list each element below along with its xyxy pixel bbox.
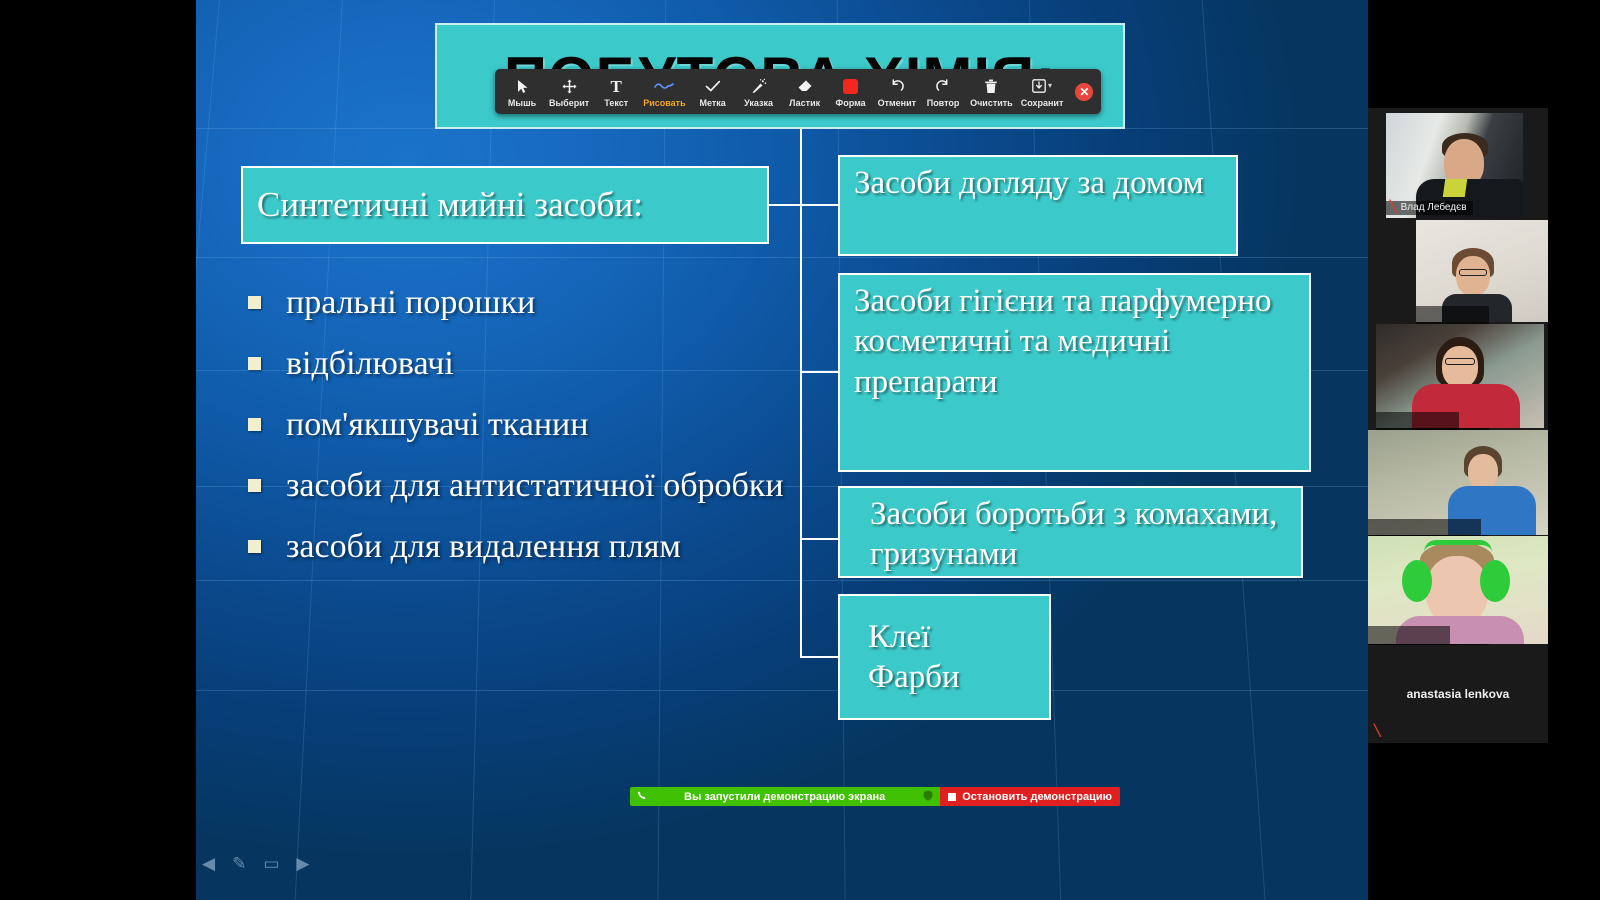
pen-annotate-icon[interactable]: ✎ bbox=[232, 855, 246, 872]
box-pest-control: Засоби боротьби з комахами, гризунами bbox=[838, 486, 1303, 578]
move-select-icon bbox=[562, 77, 577, 96]
bg-gridline bbox=[196, 0, 227, 900]
bullet-square-icon bbox=[248, 540, 261, 553]
tool-clear-label: Очистить bbox=[970, 98, 1013, 108]
participant-name: Влад Лебедєв bbox=[1401, 202, 1467, 213]
tool-stamp[interactable]: Метка bbox=[690, 71, 736, 112]
box-paints-label: Фарби bbox=[868, 657, 1035, 697]
avatar bbox=[1445, 358, 1475, 365]
tool-select[interactable]: Выберит bbox=[545, 71, 593, 112]
stop-square-icon bbox=[948, 793, 956, 801]
muted-mic-icon: ╲ bbox=[1374, 726, 1381, 737]
connector-to-glue bbox=[800, 656, 838, 658]
avatar bbox=[1456, 256, 1490, 296]
eraser-icon bbox=[797, 77, 813, 96]
avatar bbox=[1402, 560, 1432, 602]
save-download-icon: ▾ bbox=[1032, 77, 1052, 96]
list-item-label: відбілювачі bbox=[286, 341, 821, 388]
tool-clear[interactable]: Очистить bbox=[966, 71, 1017, 112]
tool-mouse-label: Мышь bbox=[508, 98, 536, 108]
phone-audio-icon bbox=[637, 791, 646, 803]
slideshow-nav-controls[interactable]: ◀ ✎ ▭ ▶ bbox=[202, 855, 309, 872]
tool-text-label: Текст bbox=[604, 98, 628, 108]
bullet-square-icon bbox=[248, 357, 261, 370]
bullet-square-icon bbox=[248, 479, 261, 492]
stop-share-label: Остановить демонстрацию bbox=[962, 791, 1112, 803]
list-item: пом'якшувачі тканин bbox=[241, 402, 821, 449]
bg-gridline bbox=[196, 257, 1368, 258]
spotlight-wand-icon bbox=[751, 77, 767, 96]
connector-to-home-care bbox=[800, 204, 838, 206]
avatar bbox=[1443, 179, 1468, 197]
text-T-icon: T bbox=[611, 77, 622, 96]
tool-spotlight[interactable]: Указка bbox=[736, 71, 782, 112]
avatar bbox=[1424, 540, 1492, 552]
tool-eraser[interactable]: Ластик bbox=[782, 71, 828, 112]
prev-slide-icon[interactable]: ◀ bbox=[202, 855, 215, 872]
box-pest-control-label: Засоби боротьби з комахами, гризунами bbox=[870, 496, 1277, 572]
zoom-annotation-toolbar[interactable]: Мышь Выберит T Текст Рисовать Метка bbox=[495, 69, 1101, 114]
redo-arrow-icon bbox=[935, 77, 951, 96]
list-item: відбілювачі bbox=[241, 341, 821, 388]
tool-text[interactable]: T Текст bbox=[593, 71, 639, 112]
tool-mouse[interactable]: Мышь bbox=[499, 71, 545, 112]
list-item: засоби для видалення плям bbox=[241, 524, 821, 571]
list-item-label: засоби для антистатичної обробки bbox=[286, 463, 821, 510]
tool-spotlight-label: Указка bbox=[744, 98, 773, 108]
tool-save-label: Сохранит bbox=[1021, 98, 1064, 108]
checkmark-stamp-icon bbox=[705, 77, 721, 96]
tool-draw[interactable]: Рисовать bbox=[639, 71, 689, 112]
tool-stamp-label: Метка bbox=[699, 98, 725, 108]
undo-arrow-icon bbox=[889, 77, 905, 96]
tool-format[interactable]: Форма bbox=[828, 71, 874, 112]
tool-redo-label: Повтор bbox=[927, 98, 960, 108]
participant-tile[interactable]: anastasia lenkova ╲ bbox=[1368, 645, 1548, 743]
next-slide-icon[interactable]: ▶ bbox=[296, 855, 309, 872]
box-home-care: Засоби догляду за домом bbox=[838, 155, 1238, 256]
list-item-label: пральні порошки bbox=[286, 280, 821, 327]
bullet-square-icon bbox=[248, 296, 261, 309]
cursor-arrow-icon bbox=[516, 77, 529, 96]
chevron-down-icon[interactable]: ▾ bbox=[1048, 82, 1052, 90]
list-item-label: засоби для видалення плям bbox=[286, 524, 821, 571]
box-synthetic-detergents-label: Синтетичні мийні засоби: bbox=[257, 184, 643, 227]
squiggle-draw-icon bbox=[654, 77, 674, 96]
tool-undo[interactable]: Отменит bbox=[874, 71, 920, 112]
screen-root: ПОБУТОВА ХІМІЯ: Синтетичні мийні засоби:… bbox=[0, 0, 1600, 900]
slide-menu-icon[interactable]: ▭ bbox=[263, 855, 279, 872]
box-hygiene-cosmetics: Засоби гігієни та парфумерно косметичні … bbox=[838, 273, 1311, 472]
tool-redo[interactable]: Повтор bbox=[920, 71, 966, 112]
bg-gridline bbox=[196, 690, 1368, 691]
box-hygiene-cosmetics-label: Засоби гігієни та парфумерно косметичні … bbox=[854, 283, 1272, 400]
box-glues-paints: Клеї Фарби bbox=[838, 594, 1051, 720]
tool-select-label: Выберит bbox=[549, 98, 589, 108]
trash-icon bbox=[984, 77, 998, 96]
participant-name: anastasia lenkova bbox=[1407, 687, 1510, 701]
avatar bbox=[1468, 454, 1498, 490]
bullet-square-icon bbox=[248, 418, 261, 431]
list-item-label: пом'якшувачі тканин bbox=[286, 402, 821, 449]
stop-share-button[interactable]: Остановить демонстрацию bbox=[940, 787, 1120, 806]
box-home-care-label: Засоби догляду за домом bbox=[854, 165, 1204, 201]
share-status-text: Вы запустили демонстрацию экрана bbox=[656, 791, 913, 803]
share-status-pill: Вы запустили демонстрацию экрана bbox=[630, 787, 940, 806]
close-icon[interactable]: ✕ bbox=[1075, 83, 1093, 101]
avatar bbox=[1480, 560, 1510, 602]
screen-share-status-bar[interactable]: Вы запустили демонстрацию экрана Останов… bbox=[630, 787, 1120, 806]
participant-name-badge: ╲ Влад Лебедєв bbox=[1386, 201, 1473, 215]
tool-draw-label: Рисовать bbox=[643, 98, 685, 108]
close-toolbar-button[interactable]: ✕ bbox=[1071, 71, 1097, 112]
muted-mic-icon: ╲ bbox=[1390, 202, 1397, 213]
connector-to-left-box bbox=[769, 204, 800, 206]
participant-video-strip[interactable]: ╲ Влад Лебедєв ╲ Аня Гордич ╲ Саша Готма… bbox=[1368, 108, 1548, 743]
list-item: засоби для антистатичної обробки bbox=[241, 463, 821, 510]
tool-undo-label: Отменит bbox=[878, 98, 916, 108]
tool-eraser-label: Ластик bbox=[789, 98, 820, 108]
color-swatch-icon bbox=[843, 77, 858, 96]
bullet-list: пральні порошки відбілювачі пом'якшувачі… bbox=[241, 280, 821, 585]
tool-save[interactable]: ▾ Сохранит bbox=[1017, 71, 1068, 112]
box-synthetic-detergents: Синтетичні мийні засоби: bbox=[241, 166, 769, 244]
shield-secure-icon[interactable] bbox=[923, 790, 933, 804]
box-glues-label: Клеї bbox=[868, 617, 1035, 657]
list-item: пральні порошки bbox=[241, 280, 821, 327]
avatar bbox=[1459, 269, 1487, 276]
avatar bbox=[1442, 346, 1478, 388]
shared-powerpoint-slide: ПОБУТОВА ХІМІЯ: Синтетичні мийні засоби:… bbox=[196, 0, 1368, 900]
tool-format-label: Форма bbox=[836, 98, 866, 108]
